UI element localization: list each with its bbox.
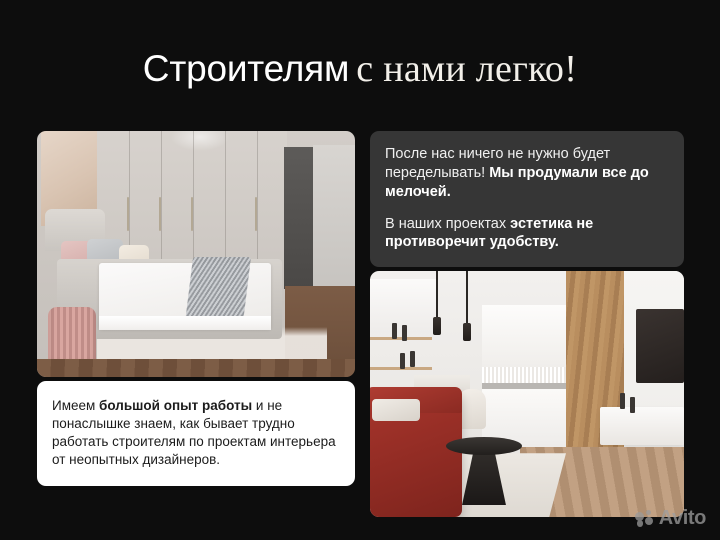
page-title-sans-part: Строителям bbox=[143, 48, 349, 89]
decor-object bbox=[620, 393, 625, 409]
decor-object bbox=[410, 351, 415, 367]
kitchen-upper-cabinets bbox=[482, 305, 570, 367]
page-title-serif-part: с нами легко! bbox=[356, 48, 577, 90]
avito-dots-logo bbox=[635, 510, 654, 527]
bed-sheet bbox=[99, 316, 271, 330]
wall-tv bbox=[636, 309, 684, 383]
right-text-card: После нас ничего не нужно будет переделы… bbox=[370, 131, 684, 267]
kitchen-living-room-photo bbox=[370, 271, 684, 517]
right-card-p2-lead: В наших проектах bbox=[385, 216, 510, 232]
pendant-lamp bbox=[436, 271, 438, 319]
wall-shelf bbox=[370, 337, 432, 340]
bedroom-interior-photo bbox=[37, 131, 355, 377]
pendant-lamp bbox=[466, 271, 468, 325]
page-title: Строителямс нами легко! bbox=[0, 50, 720, 88]
wardrobe-handle-icon bbox=[127, 197, 129, 231]
left-column: Имеем большой опыт работы и не понаслышк… bbox=[37, 131, 355, 486]
left-card-lead: Имеем bbox=[52, 398, 99, 413]
coffee-table-top bbox=[446, 437, 522, 455]
right-card-paragraph-1: После нас ничего не нужно будет переделы… bbox=[385, 145, 669, 202]
left-card-paragraph: Имеем большой опыт работы и не понаслышк… bbox=[52, 397, 340, 469]
decor-object bbox=[402, 325, 407, 341]
wardrobe-handle-icon bbox=[255, 197, 257, 231]
dining-chair bbox=[458, 389, 486, 429]
left-text-card: Имеем большой опыт работы и не понаслышк… bbox=[37, 381, 355, 486]
avito-watermark: Avito bbox=[635, 507, 706, 530]
decor-object bbox=[400, 353, 405, 369]
area-rug bbox=[446, 453, 566, 517]
wood-floor bbox=[37, 359, 355, 377]
poster-canvas: Строителямс нами легко! Имеем большой bbox=[0, 0, 720, 540]
avito-brand-text: Avito bbox=[659, 507, 706, 530]
tv-console bbox=[600, 407, 684, 445]
right-card-paragraph-2: В наших проектах эстетика не противоречи… bbox=[385, 215, 669, 253]
left-card-bold: большой опыт работы bbox=[99, 398, 252, 413]
decor-object bbox=[392, 323, 397, 339]
decor-object bbox=[630, 397, 635, 413]
right-column: После нас ничего не нужно будет переделы… bbox=[370, 131, 684, 517]
wardrobe-handle-icon bbox=[159, 197, 161, 231]
sofa-cushion bbox=[372, 399, 420, 421]
wardrobe-handle-icon bbox=[191, 197, 193, 231]
knit-throw bbox=[185, 257, 251, 323]
